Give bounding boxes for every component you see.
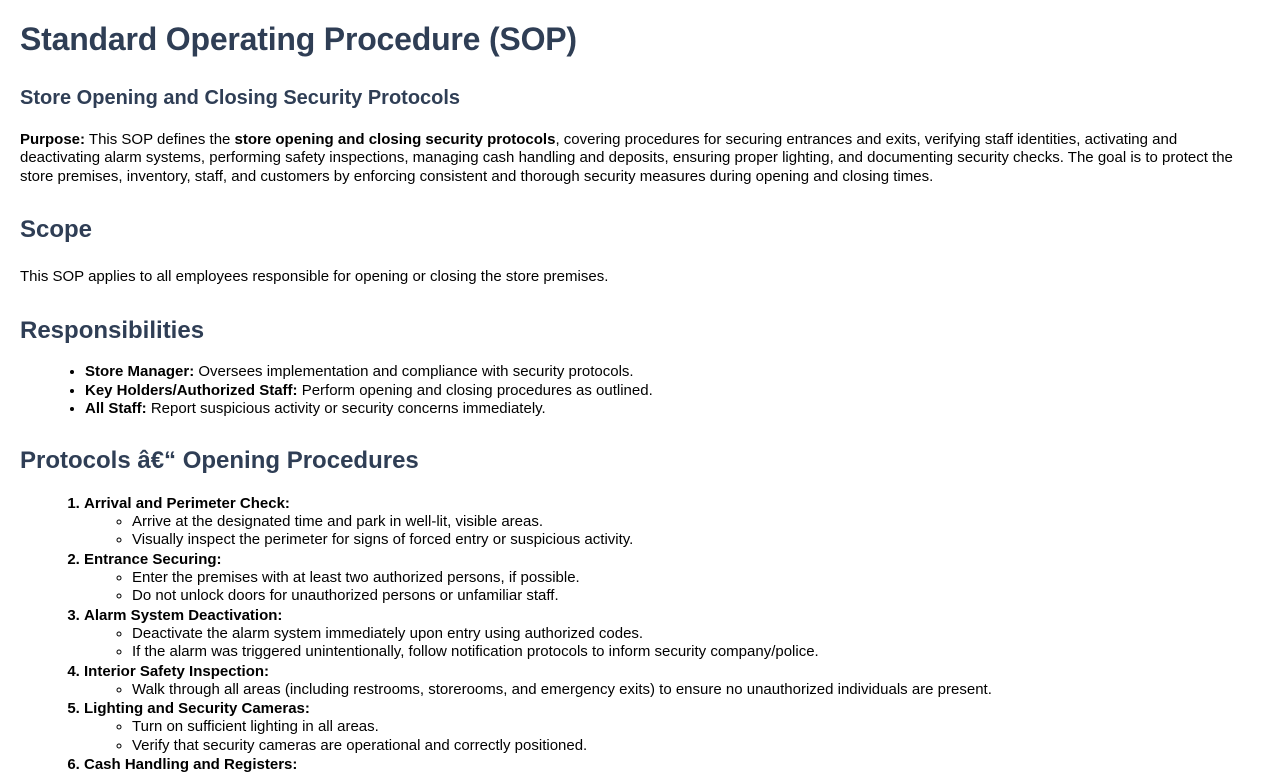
scope-paragraph: This SOP applies to all employees respon… [20,268,1243,287]
responsibilities-heading: Responsibilities [20,317,1243,346]
sub-list-item: Visually inspect the perimeter for signs… [132,531,1243,550]
responsibility-detail: Report suspicious activity or security c… [147,400,546,417]
sub-list-item: Do not unlock doors for unauthorized per… [132,587,1243,606]
responsibility-detail: Oversees implementation and compliance w… [194,363,633,380]
scope-heading: Scope [20,216,1243,245]
sub-list-item: Arrive at the designated time and park i… [132,513,1243,532]
purpose-text-before: This SOP defines the [85,131,235,148]
sub-list: Arrive at the designated time and park i… [84,513,1243,550]
responsibility-detail: Perform opening and closing procedures a… [298,382,653,399]
sub-list-item: Deactivate the alarm system immediately … [132,625,1243,644]
step-label: Interior Safety Inspection: [84,663,269,680]
list-item: Key Holders/Authorized Staff: Perform op… [85,382,1243,401]
list-item: Store Manager: Oversees implementation a… [85,363,1243,382]
responsibility-role: Key Holders/Authorized Staff: [85,382,298,399]
list-item: Alarm System Deactivation: Deactivate th… [84,606,1243,662]
step-label: Entrance Securing: [84,551,222,568]
step-label: Alarm System Deactivation: [84,607,282,624]
list-item: Cash Handling and Registers: [84,755,1243,774]
list-item: Arrival and Perimeter Check: Arrive at t… [84,494,1243,550]
sub-list: Walk through all areas (including restro… [84,681,1243,700]
sub-list-item: Turn on sufficient lighting in all areas… [132,718,1243,737]
sub-list-item: If the alarm was triggered unintentional… [132,643,1243,662]
list-item: Interior Safety Inspection: Walk through… [84,662,1243,700]
sub-list-item: Verify that security cameras are operati… [132,737,1243,756]
sub-list: Enter the premises with at least two aut… [84,569,1243,606]
list-item: All Staff: Report suspicious activity or… [85,400,1243,419]
sub-list: Deactivate the alarm system immediately … [84,625,1243,662]
sub-list-item: Enter the premises with at least two aut… [132,569,1243,588]
purpose-bold-phrase: store opening and closing security proto… [235,131,556,148]
purpose-paragraph: Purpose: This SOP defines the store open… [20,131,1243,187]
responsibility-role: Store Manager: [85,363,194,380]
sub-list: Turn on sufficient lighting in all areas… [84,718,1243,755]
sub-list-item: Walk through all areas (including restro… [132,681,1243,700]
document-page: Standard Operating Procedure (SOP) Store… [0,21,1263,774]
document-subtitle: Store Opening and Closing Security Proto… [20,86,1243,110]
page-title: Standard Operating Procedure (SOP) [20,21,1243,59]
list-item: Entrance Securing: Enter the premises wi… [84,550,1243,606]
responsibility-role: All Staff: [85,400,147,417]
responsibilities-list: Store Manager: Oversees implementation a… [20,363,1243,419]
protocols-list: Arrival and Perimeter Check: Arrive at t… [20,494,1243,774]
step-label: Arrival and Perimeter Check: [84,495,290,512]
step-label: Lighting and Security Cameras: [84,700,310,717]
step-label: Cash Handling and Registers: [84,756,297,773]
protocols-heading: Protocols â€“ Opening Procedures [20,447,1243,476]
purpose-label: Purpose: [20,131,85,148]
